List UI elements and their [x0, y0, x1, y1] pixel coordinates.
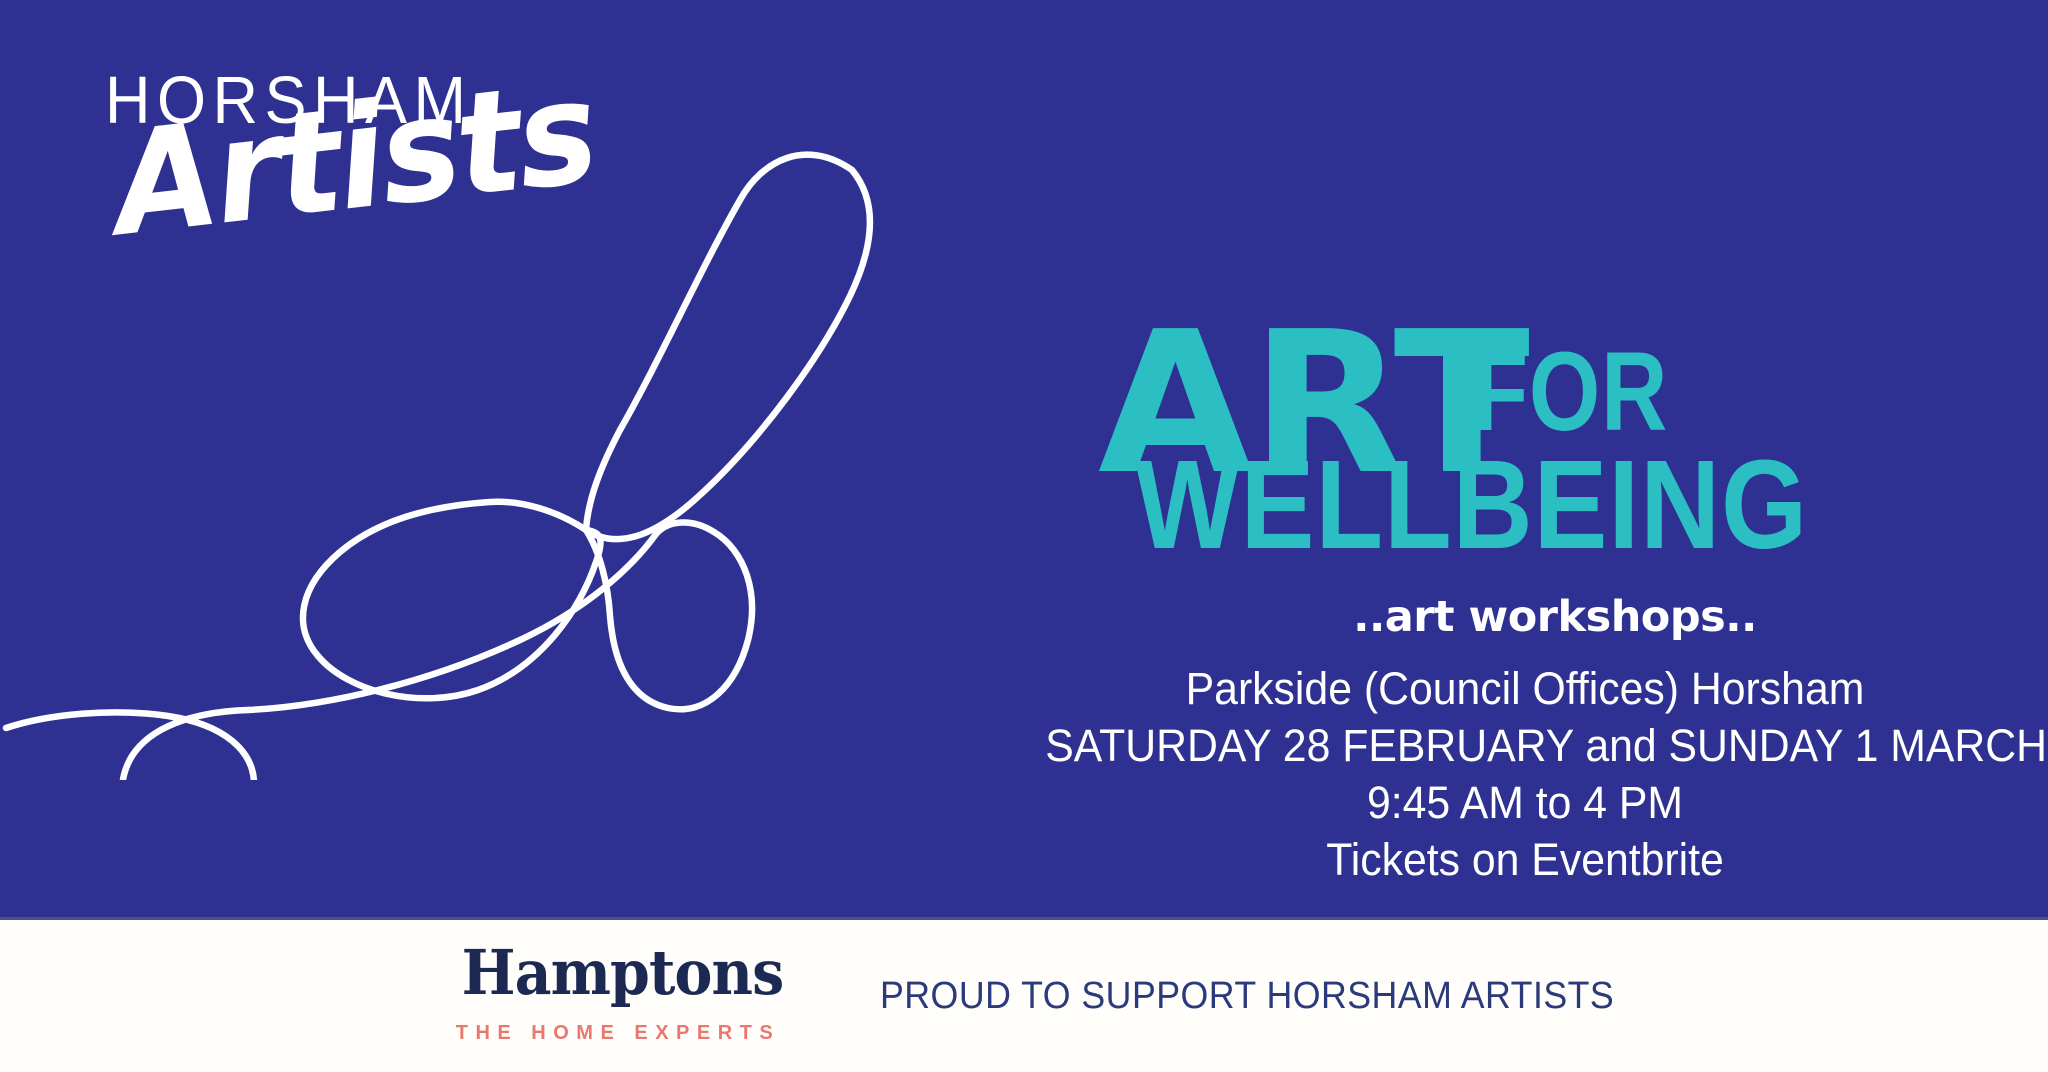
hamptons-tagline: THE HOME EXPERTS: [448, 1022, 788, 1045]
detail-dates: SATURDAY 28 FEBRUARY and SUNDAY 1 MARCH: [1045, 717, 2005, 774]
sponsor-support-text: PROUD TO SUPPORT HORSHAM ARTISTS: [880, 975, 1614, 1018]
detail-tickets: Tickets on Eventbrite: [1045, 831, 2005, 888]
hamptons-wordmark: Hamptons: [462, 942, 775, 1004]
sponsor-bar-divider: [0, 917, 2048, 920]
event-details-block: Parkside (Council Offices) Horsham SATUR…: [1020, 660, 2030, 888]
horsham-artists-logo: HORSHAM Artists: [105, 68, 625, 338]
headline-word-wellbeing: WELLBEING: [1135, 442, 1808, 568]
subheadline-art-workshops: ..art workshops..: [1090, 592, 2020, 642]
detail-times: 9:45 AM to 4 PM: [1045, 774, 2005, 831]
headline-word-for: FOR: [1472, 336, 1668, 448]
hamptons-logo: Hamptons THE HOME EXPERTS: [448, 942, 788, 1045]
headline-block: ART FOR WELLBEING: [1090, 330, 2020, 590]
event-poster: HORSHAM Artists ART FOR WELLBEING: [0, 0, 2048, 1072]
detail-venue: Parkside (Council Offices) Horsham: [1045, 660, 2005, 717]
